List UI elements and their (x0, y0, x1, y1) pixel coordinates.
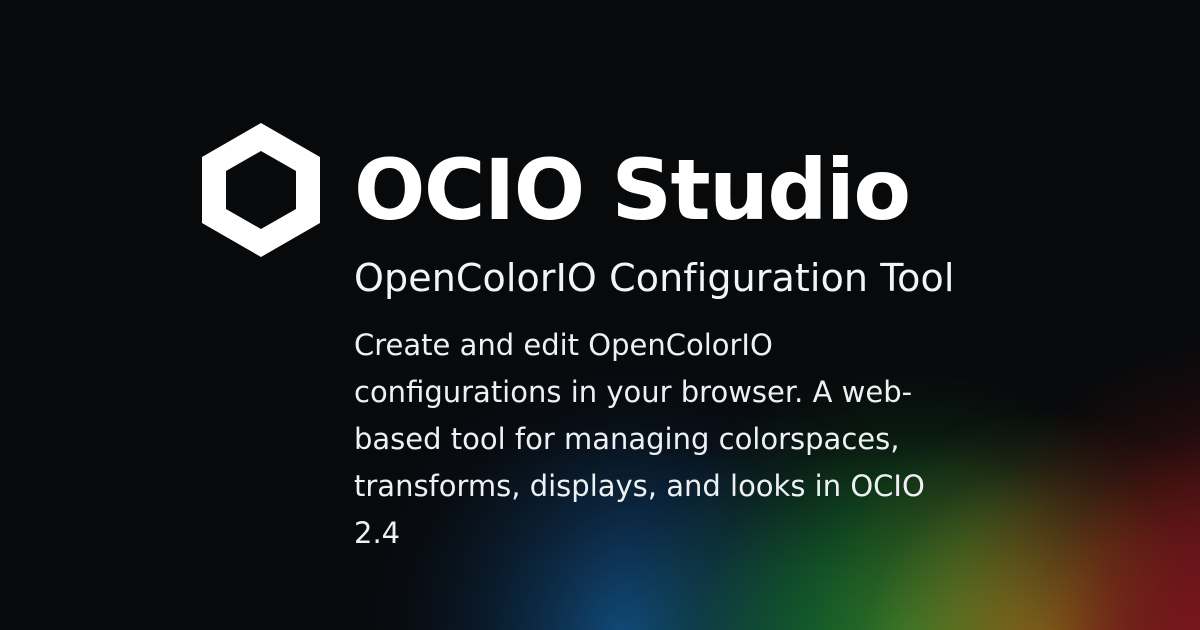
hero-text-block: OpenColorIO Configuration Tool Create an… (354, 256, 994, 557)
page-subtitle: OpenColorIO Configuration Tool (354, 256, 994, 300)
hero-content: OCIO Studio OpenColorIO Configuration To… (0, 0, 1200, 630)
hexagon-ring-icon (200, 122, 322, 258)
page-description: Create and edit OpenColorIO configuratio… (354, 322, 962, 557)
og-hero-card: OCIO Studio OpenColorIO Configuration To… (0, 0, 1200, 630)
page-title: OCIO Studio (354, 148, 910, 232)
brand-row: OCIO Studio (200, 122, 910, 258)
